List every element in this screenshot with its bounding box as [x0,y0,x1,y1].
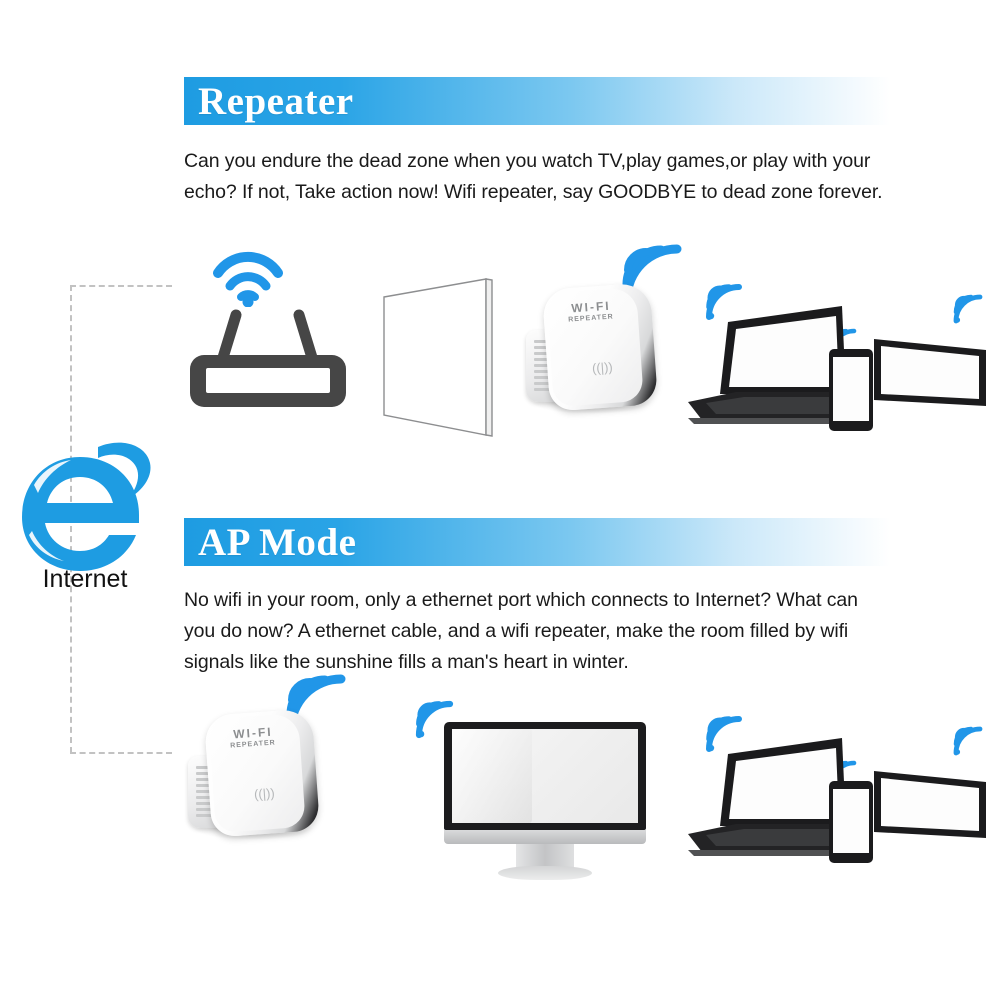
device-cluster-repeater [676,280,992,430]
section-body-ap-mode: No wifi in your room, only a ethernet po… [184,585,884,678]
monitor-chin [444,830,646,844]
smartphone-body [824,778,882,866]
smartphone-body [824,346,882,434]
wall-barrier [378,275,538,450]
monitor-screen-reflection [452,729,532,823]
wireless-router [190,245,355,410]
section-title-repeater: Repeater [198,82,354,121]
repeater-signal-led: ((|)) [592,359,614,375]
internet-explorer-e-logo [10,425,160,575]
connector-line-bottom [70,752,172,754]
wall-outline [378,275,538,450]
repeater-signal-led: ((|)) [254,785,276,801]
section-title-ap-mode: AP Mode [198,523,356,562]
infographic-page: Internet Repeater Can you endure the dea… [0,0,1000,1000]
monitor-stand-base [498,866,592,880]
section-body-repeater: Can you endure the dead zone when you wa… [184,146,884,208]
wifi-repeater-device: WI-FI REPEATER ((|)) [524,250,694,420]
device-cluster-ap-mode [676,716,992,866]
section-banner-ap-mode: AP Mode [184,518,890,566]
section-banner-repeater: Repeater [184,77,890,125]
wifi-signal-icon [212,245,284,307]
wifi-repeater-device-ap: WI-FI REPEATER ((|)) [186,676,356,846]
internet-label: Internet [5,565,165,594]
connector-line-top [70,285,172,287]
smartphone [824,346,882,439]
smartphone [824,778,882,871]
internet-node: Internet [10,425,160,575]
router-indicator-slot [206,368,330,393]
desktop-monitor [406,696,656,876]
